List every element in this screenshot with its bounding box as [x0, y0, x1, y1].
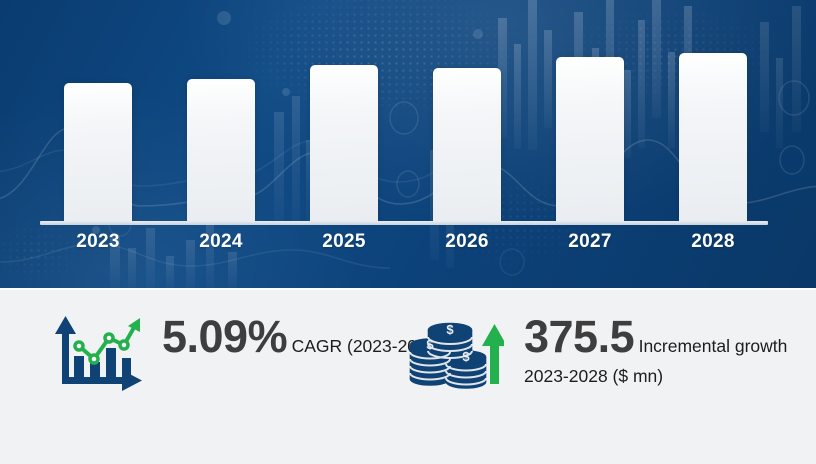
bar-2024 — [187, 79, 255, 222]
stat-cagr-text: 5.09% CAGR (2023-2028) — [162, 310, 442, 364]
bar-2027 — [556, 57, 624, 222]
x-axis-label-2027: 2027 — [556, 231, 624, 253]
bar-2025 — [310, 65, 378, 222]
stat-cagr: 5.09% CAGR (2023-2028) — [48, 308, 442, 399]
stat-cagr-value: 5.09% — [162, 311, 287, 362]
x-axis-label-2028: 2028 — [679, 231, 747, 253]
x-axis-label-2024: 2024 — [187, 231, 255, 253]
bar-2026 — [433, 68, 501, 222]
chart-panel: 2023 2024 2025 2026 2027 2028 — [0, 0, 816, 288]
stat-incremental-growth: $ $ $ 375.5 Incremental growth 2023-2028… — [408, 308, 787, 399]
svg-text:$: $ — [426, 337, 434, 352]
market-growth-infographic: 2023 2024 2025 2026 2027 2028 — [0, 0, 816, 464]
bar-2023 — [64, 83, 132, 222]
stat-incremental-growth-text: 375.5 Incremental growth 2023-2028 ($ mn… — [524, 310, 787, 388]
chart-axis-line — [40, 221, 768, 225]
x-axis-label-2025: 2025 — [310, 231, 378, 253]
x-axis-label-2023: 2023 — [64, 231, 132, 253]
x-axis-label-2026: 2026 — [433, 231, 501, 253]
growth-chart-icon — [48, 314, 144, 399]
stats-panel: 5.09% CAGR (2023-2028) — [0, 288, 816, 464]
svg-text:$: $ — [462, 349, 470, 364]
bar-chart: 2023 2024 2025 2026 2027 2028 — [0, 0, 816, 288]
stat-incremental-growth-value: 375.5 — [524, 311, 634, 362]
svg-text:$: $ — [446, 322, 454, 337]
bar-2028 — [679, 53, 747, 222]
coin-stacks-icon: $ $ $ — [408, 314, 504, 399]
